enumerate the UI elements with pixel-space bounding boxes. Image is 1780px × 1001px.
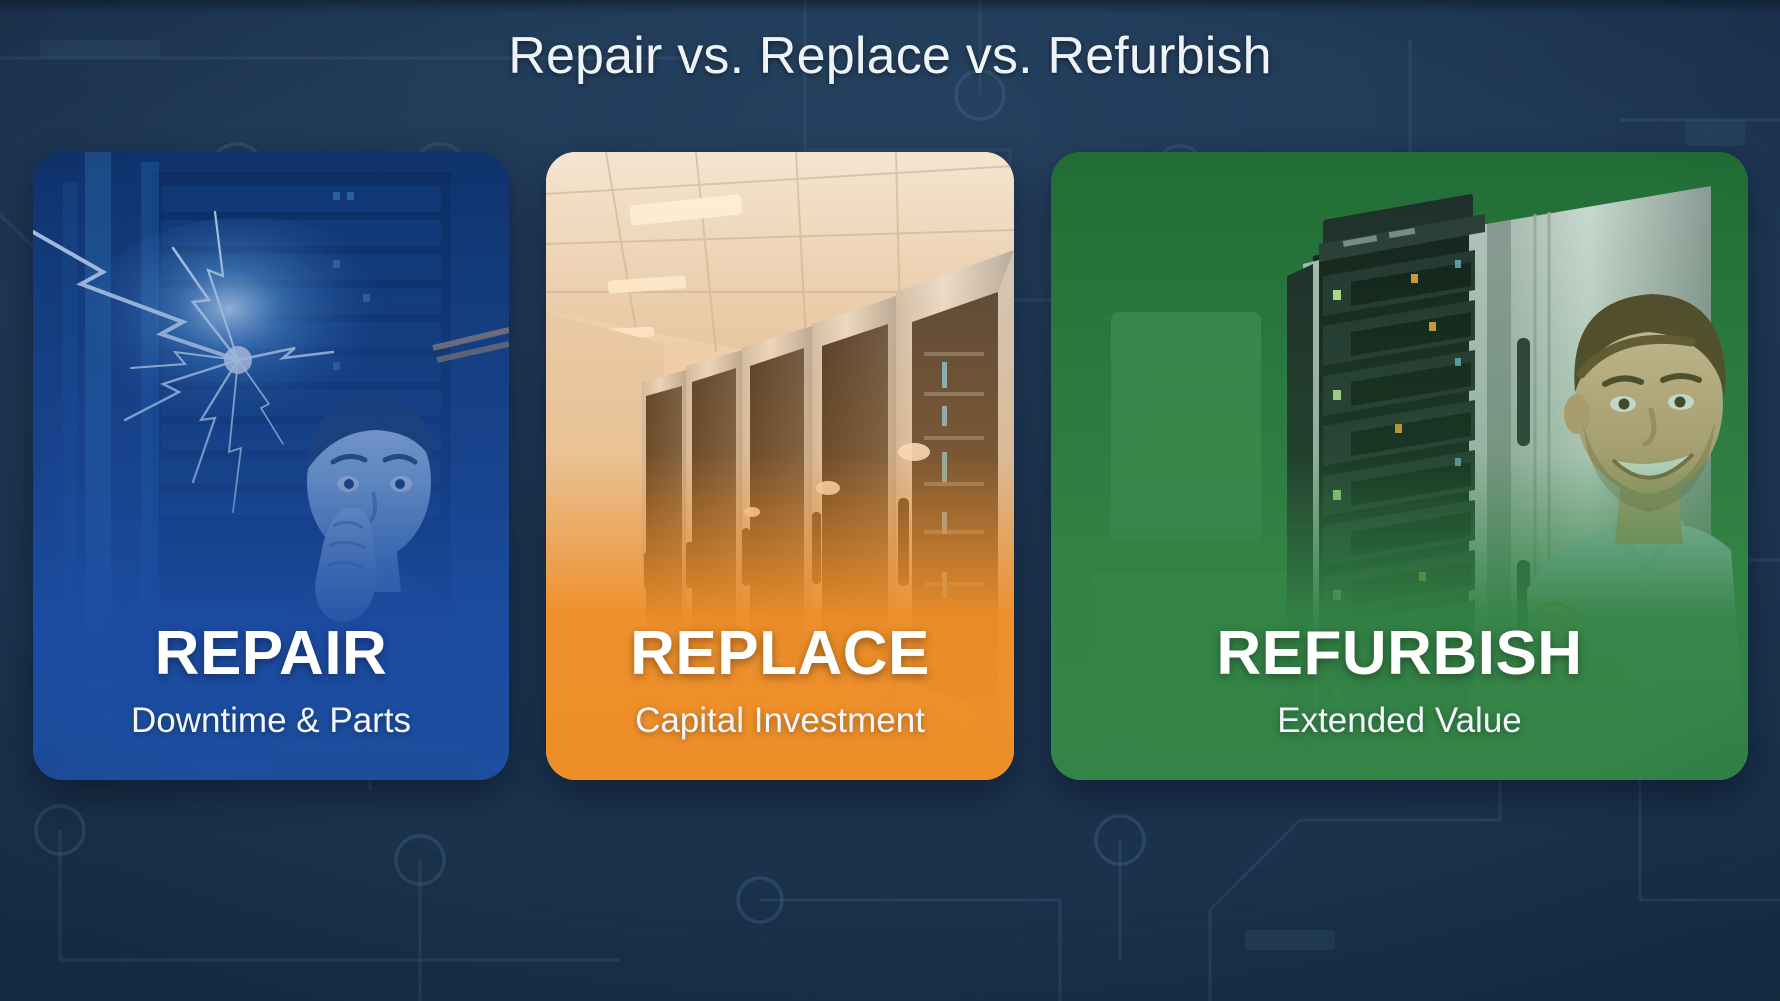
- top-edge-shade: [0, 0, 1780, 14]
- page-title: Repair vs. Replace vs. Refurbish: [0, 26, 1780, 86]
- refurbish-caption: REFURBISH Extended Value: [1051, 622, 1748, 780]
- replace-caption: REPLACE Capital Investment: [546, 622, 1014, 780]
- repair-subtitle: Downtime & Parts: [51, 702, 491, 741]
- slide-canvas: Repair vs. Replace vs. Refurbish: [0, 0, 1780, 1001]
- repair-title: REPAIR: [51, 622, 491, 685]
- refurbish-title: REFURBISH: [1069, 622, 1730, 685]
- replace-title: REPLACE: [564, 622, 996, 685]
- replace-subtitle: Capital Investment: [564, 702, 996, 741]
- refurbish-subtitle: Extended Value: [1069, 702, 1730, 741]
- card-refurbish[interactable]: REFURBISH Extended Value: [1051, 152, 1748, 780]
- repair-caption: REPAIR Downtime & Parts: [33, 622, 509, 780]
- card-repair[interactable]: REPAIR Downtime & Parts: [33, 152, 509, 780]
- card-row: REPAIR Downtime & Parts: [33, 152, 1747, 780]
- card-replace[interactable]: REPLACE Capital Investment: [546, 152, 1014, 780]
